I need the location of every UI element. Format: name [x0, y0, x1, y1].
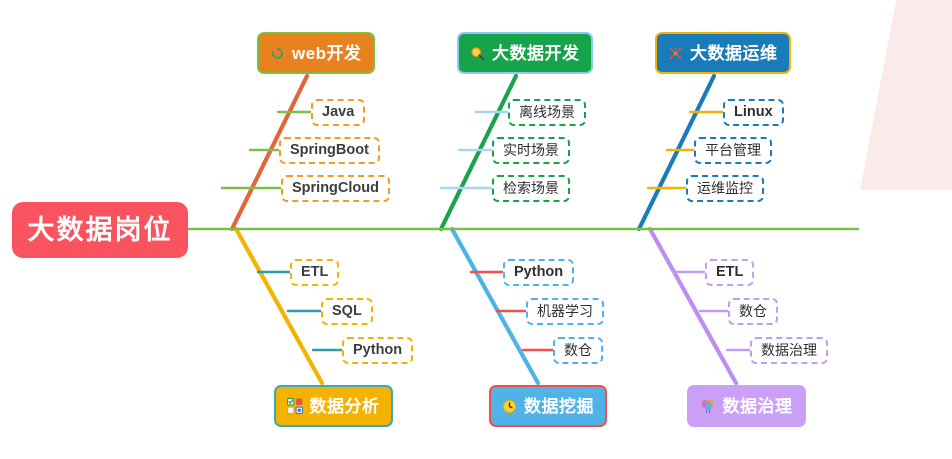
- sub-node-bigdata-dev-1[interactable]: 实时场景: [492, 137, 570, 164]
- sub-node-label: SpringCloud: [292, 181, 379, 196]
- branch-node-bigdata-dev[interactable]: 大数据开发: [457, 32, 593, 74]
- sub-node-bigdata-dev-2[interactable]: 检索场景: [492, 175, 570, 202]
- sub-node-label: 运维监控: [697, 181, 753, 195]
- clock-icon: [502, 399, 517, 414]
- sub-node-label: ETL: [301, 265, 328, 280]
- branch-node-data-governance[interactable]: 数据治理: [687, 385, 806, 427]
- sub-node-label: 实时场景: [503, 143, 559, 157]
- sub-node-label: Python: [514, 265, 563, 280]
- sub-node-data-governance-1[interactable]: 数仓: [728, 298, 778, 325]
- sub-node-label: 平台管理: [705, 143, 761, 157]
- sub-node-label: Linux: [734, 105, 773, 120]
- root-node-label: 大数据岗位: [28, 217, 173, 244]
- sub-node-web-dev-2[interactable]: SpringCloud: [281, 175, 390, 202]
- sub-node-web-dev-0[interactable]: Java: [311, 99, 365, 126]
- grid-squares-icon: [287, 398, 303, 414]
- sub-node-data-analysis-0[interactable]: ETL: [290, 259, 339, 286]
- branch-node-data-mining[interactable]: 数据挖掘: [489, 385, 607, 427]
- sub-node-data-governance-0[interactable]: ETL: [705, 259, 754, 286]
- sub-node-label: 离线场景: [519, 105, 575, 119]
- bone-data-governance: [650, 229, 736, 383]
- balloons-icon: [700, 398, 716, 414]
- sub-node-label: SQL: [332, 304, 362, 319]
- network-nodes-icon: [668, 46, 683, 61]
- branch-node-web-dev[interactable]: web开发: [257, 32, 375, 74]
- sub-node-label: 数仓: [739, 304, 767, 318]
- fishbone-diagram-canvas: 大数据岗位 web开发JavaSpringBootSpringCloud大数据开…: [0, 0, 952, 459]
- branch-node-label: 大数据开发: [492, 45, 580, 62]
- sub-node-label: 数仓: [564, 343, 592, 357]
- sub-node-label: 机器学习: [537, 304, 593, 318]
- sub-node-label: Python: [353, 343, 402, 358]
- sub-node-bigdata-ops-0[interactable]: Linux: [723, 99, 784, 126]
- sub-node-data-analysis-2[interactable]: Python: [342, 337, 413, 364]
- sub-node-label: ETL: [716, 265, 743, 280]
- sub-node-data-mining-2[interactable]: 数仓: [553, 337, 603, 364]
- pink-diagonal-band: [860, 0, 952, 190]
- branch-node-label: 大数据运维: [690, 45, 778, 62]
- branch-node-label: web开发: [292, 45, 362, 62]
- sub-node-bigdata-ops-2[interactable]: 运维监控: [686, 175, 764, 202]
- sub-node-web-dev-1[interactable]: SpringBoot: [279, 137, 380, 164]
- sub-node-label: 检索场景: [503, 181, 559, 195]
- sub-node-label: Java: [322, 105, 354, 120]
- sub-node-data-mining-1[interactable]: 机器学习: [526, 298, 604, 325]
- sub-node-label: SpringBoot: [290, 143, 369, 158]
- sub-node-data-analysis-1[interactable]: SQL: [321, 298, 373, 325]
- sub-node-data-governance-2[interactable]: 数据治理: [750, 337, 828, 364]
- sub-node-data-mining-0[interactable]: Python: [503, 259, 574, 286]
- magnifier-icon: [470, 46, 485, 61]
- root-node[interactable]: 大数据岗位: [12, 202, 188, 258]
- branch-node-bigdata-ops[interactable]: 大数据运维: [655, 32, 791, 74]
- sub-node-bigdata-ops-1[interactable]: 平台管理: [694, 137, 772, 164]
- bone-data-analysis: [236, 229, 322, 383]
- sub-node-label: 数据治理: [761, 343, 817, 357]
- branch-node-label: 数据分析: [310, 398, 380, 415]
- branch-node-label: 数据治理: [723, 398, 793, 415]
- sub-node-bigdata-dev-0[interactable]: 离线场景: [508, 99, 586, 126]
- refresh-circle-icon: [270, 46, 285, 61]
- branch-node-data-analysis[interactable]: 数据分析: [274, 385, 393, 427]
- branch-node-label: 数据挖掘: [524, 398, 594, 415]
